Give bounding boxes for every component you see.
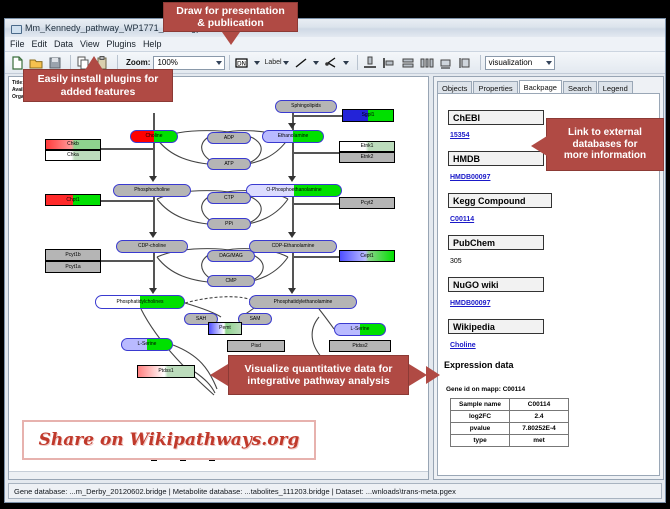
node-label: CDP-Ethanolamine bbox=[272, 244, 315, 249]
node-phosphocholine[interactable]: Phosphocholine bbox=[113, 184, 191, 197]
menu-item-view[interactable]: View bbox=[80, 39, 99, 49]
section-header-wikipedia: Wikipedia bbox=[448, 319, 544, 334]
cell-key: log2FC bbox=[451, 411, 510, 423]
canvas-horizontal-scrollbar[interactable] bbox=[9, 471, 429, 479]
expression-data-title: Expression data bbox=[444, 360, 514, 370]
callout-install-plugins: Easily install plugins for added feature… bbox=[23, 69, 173, 102]
gene-chkb[interactable]: Chkb bbox=[45, 139, 101, 150]
gene-label: Pcyt1a bbox=[65, 265, 80, 270]
node-ethanolamine-top[interactable]: Ethanolamine bbox=[262, 130, 324, 143]
callout-draw-arrow bbox=[222, 32, 240, 45]
gene-label: Sgpl1 bbox=[362, 113, 375, 118]
toolbar-separator-3 bbox=[229, 55, 230, 70]
gene-label: Pcyt2 bbox=[361, 201, 374, 206]
expression-data-table: Sample name C00114 log2FC 2.4 pvalue 7.8… bbox=[450, 398, 569, 447]
node-label: L-Serine bbox=[351, 327, 370, 332]
node-atp[interactable]: ATP bbox=[207, 158, 251, 170]
cell-value: 7.80252E-4 bbox=[510, 423, 569, 435]
node-label: O-Phosphoethanolamine bbox=[266, 188, 321, 193]
toolbar-separator-4 bbox=[357, 55, 358, 70]
kegg-link[interactable]: C00114 bbox=[450, 216, 474, 223]
node-cdp-ethanolamine[interactable]: CDP-Ethanolamine bbox=[249, 240, 337, 253]
table-row: type met bbox=[451, 435, 569, 447]
gene-sgpl1[interactable]: Sgpl1 bbox=[342, 109, 394, 122]
node-adp[interactable]: ADP bbox=[207, 132, 251, 144]
common-width-icon[interactable] bbox=[438, 55, 454, 71]
callout-line-2: added features bbox=[61, 86, 136, 98]
node-phosphatidylethanolamine[interactable]: Phosphatidylethanolamine bbox=[249, 295, 357, 309]
gene-chpt1[interactable]: Chpt1 bbox=[45, 194, 101, 206]
zoom-value: 100% bbox=[157, 58, 177, 67]
node-label: ATP bbox=[224, 162, 233, 167]
callout-visualize-arrow-right-2 bbox=[426, 366, 440, 384]
gene-etnk1[interactable]: Etnk1 bbox=[339, 141, 395, 152]
gene-pcyt2[interactable]: Pcyt2 bbox=[339, 197, 395, 209]
menu-item-help[interactable]: Help bbox=[143, 39, 162, 49]
cell-value: C00114 bbox=[510, 399, 569, 411]
section-header-pubchem: PubChem bbox=[448, 235, 544, 250]
cell-value: 2.4 bbox=[510, 411, 569, 423]
gene-label: Cept1 bbox=[360, 254, 373, 259]
node-ppi[interactable]: PPi bbox=[207, 218, 251, 230]
callout-line-2: integrative pathway analysis bbox=[247, 375, 389, 387]
node-cdp-choline[interactable]: CDP-choline bbox=[116, 240, 188, 253]
chebi-link[interactable]: 15354 bbox=[450, 132, 469, 139]
line-icon[interactable] bbox=[293, 55, 309, 71]
gene-label: Pcyt1b bbox=[65, 253, 80, 258]
node-label: SAH bbox=[196, 317, 206, 322]
toolbar-separator-5 bbox=[480, 55, 481, 70]
node-o-phosphoethanolamine[interactable]: O-Phosphoethanolamine bbox=[246, 184, 342, 197]
table-row: log2FC 2.4 bbox=[451, 411, 569, 423]
gene-cept1[interactable]: Cept1 bbox=[339, 250, 395, 262]
screenshot-root: Mm_Kennedy_pathway_WP1771_45176.gpml Fil… bbox=[0, 0, 670, 509]
tab-backpage[interactable]: Backpage bbox=[519, 80, 562, 94]
status-text: Gene database: ...m_Derby_20120602.bridg… bbox=[14, 487, 456, 496]
visualization-combobox[interactable]: visualization bbox=[485, 56, 555, 70]
cell-key: pvalue bbox=[451, 423, 510, 435]
callout-draw-presentation: Draw for presentation & publication bbox=[163, 2, 298, 32]
side-panel-tabs: Objects Properties Backpage Search Legen… bbox=[437, 80, 660, 94]
callout-line-1: Visualize quantitative data for bbox=[244, 363, 392, 375]
visualization-value: visualization bbox=[489, 58, 533, 67]
gene-pemt[interactable]: Pemt bbox=[208, 322, 242, 335]
gene-ptdss2[interactable]: Ptdss2 bbox=[329, 340, 391, 352]
pubchem-value: 305 bbox=[450, 258, 462, 265]
callout-line-1: Easily install plugins for bbox=[38, 73, 159, 85]
toolbar-separator-2 bbox=[117, 55, 118, 70]
gene-pcyt1b[interactable]: Pcyt1b bbox=[45, 249, 101, 261]
gene-pisd[interactable]: Pisd bbox=[227, 340, 285, 352]
align-left-icon[interactable] bbox=[381, 55, 397, 71]
gene-label: Etnk1 bbox=[361, 144, 374, 149]
gene-id-on-mapp: Gene id on mapp: C00114 bbox=[446, 386, 525, 393]
node-sam[interactable]: SAM bbox=[238, 313, 272, 325]
menu-item-edit[interactable]: Edit bbox=[32, 39, 48, 49]
section-header-chebi: ChEBI bbox=[448, 110, 544, 125]
chevron-down-icon-2 bbox=[546, 61, 552, 65]
node-choline-top[interactable]: Choline bbox=[130, 130, 178, 143]
section-header-hmdb: HMDB bbox=[448, 151, 544, 166]
zoom-label: Zoom: bbox=[126, 58, 150, 67]
node-l-serine-right[interactable]: L-Serine bbox=[334, 323, 386, 336]
align-bottom-icon[interactable] bbox=[362, 55, 378, 71]
node-label: Sphingolipids bbox=[291, 104, 321, 109]
node-label: Phosphatidylethanolamine bbox=[274, 300, 333, 305]
node-phosphatidylcholines[interactable]: Phosphatidylcholines bbox=[95, 295, 185, 309]
node-label: Ethanolamine bbox=[278, 134, 309, 139]
node-label: Choline bbox=[146, 134, 163, 139]
menu-item-plugins[interactable]: Plugins bbox=[106, 39, 136, 49]
line-dropdown-icon[interactable] bbox=[313, 61, 319, 65]
callout-visualize-arrow-left bbox=[210, 364, 228, 386]
gene-label: Pisd bbox=[251, 344, 261, 349]
node-sphingolipids[interactable]: Sphingolipids bbox=[275, 100, 337, 113]
hmdb-link[interactable]: HMDB00097 bbox=[450, 174, 490, 181]
gene-label: Pemt bbox=[219, 326, 231, 331]
distribute-icon[interactable] bbox=[419, 55, 435, 71]
datanode-dropdown-icon[interactable] bbox=[254, 61, 260, 65]
cell-key: Sample name bbox=[451, 399, 510, 411]
share-text: Share on Wikipathways.org bbox=[39, 430, 300, 450]
node-label: CDP-choline bbox=[138, 244, 166, 249]
title-bar: Mm_Kennedy_pathway_WP1771_45176.gpml bbox=[5, 19, 665, 38]
gene-label: Chka bbox=[67, 153, 79, 158]
section-header-nugo: NuGO wiki bbox=[448, 277, 544, 292]
node-label: SAM bbox=[250, 317, 261, 322]
cell-key: type bbox=[451, 435, 510, 447]
common-height-icon[interactable] bbox=[457, 55, 473, 71]
menu-bar: File Edit Data View Plugins Help bbox=[5, 37, 665, 52]
label-dropdown-icon[interactable] bbox=[283, 61, 289, 65]
chevron-down-icon bbox=[216, 61, 222, 65]
gene-label: Etnk2 bbox=[361, 155, 374, 160]
callout-share-wikipathways: Share on Wikipathways.org bbox=[22, 420, 316, 460]
node-label: Phosphatidylcholines bbox=[117, 300, 164, 305]
callout-plugins-arrow bbox=[85, 56, 103, 70]
section-header-kegg: Kegg Compound bbox=[448, 193, 552, 208]
node-cmp[interactable]: CMP bbox=[207, 275, 255, 287]
anchor-dropdown-icon[interactable] bbox=[343, 61, 349, 65]
table-row: pvalue 7.80252E-4 bbox=[451, 423, 569, 435]
gene-pcyt1a[interactable]: Pcyt1a bbox=[45, 261, 101, 273]
gene-label: Ptdss2 bbox=[352, 344, 367, 349]
node-label: Phosphocholine bbox=[134, 188, 170, 193]
gene-ptdss1[interactable]: Ptdss1 bbox=[137, 365, 195, 378]
node-ctp[interactable]: CTP bbox=[207, 192, 251, 204]
datanode-icon[interactable]: DN bbox=[234, 55, 250, 71]
label-tool-label[interactable]: Label bbox=[264, 59, 281, 66]
nugo-link[interactable]: HMDB00097 bbox=[450, 300, 490, 307]
zoom-combobox[interactable]: 100% bbox=[153, 56, 225, 70]
gene-label: Chkb bbox=[67, 142, 79, 147]
cell-value: met bbox=[510, 435, 569, 447]
callout-line-2: databases for bbox=[572, 139, 637, 151]
callout-line-1: Draw for presentation bbox=[176, 5, 285, 17]
menu-item-data[interactable]: Data bbox=[54, 39, 73, 49]
status-bar: Gene database: ...m_Derby_20120602.bridg… bbox=[8, 483, 662, 499]
menu-item-file[interactable]: File bbox=[10, 39, 25, 49]
node-l-serine-left[interactable]: L-Serine bbox=[121, 338, 173, 351]
app-icon bbox=[10, 23, 21, 34]
node-label: DAG/MAG bbox=[219, 254, 243, 259]
svg-text:DN: DN bbox=[237, 60, 246, 67]
gene-label: Ptdss1 bbox=[158, 369, 173, 374]
callout-link-arrow bbox=[531, 136, 547, 156]
stack-icon[interactable] bbox=[400, 55, 416, 71]
gene-etnk2[interactable]: Etnk2 bbox=[339, 152, 395, 163]
callout-line-2: & publication bbox=[197, 17, 264, 29]
node-label: CTP bbox=[224, 196, 234, 201]
node-label: ADP bbox=[224, 136, 234, 141]
node-label: L-Serine bbox=[138, 342, 157, 347]
callout-line-1: Link to external bbox=[568, 127, 642, 139]
callout-external-databases: Link to external databases for more info… bbox=[546, 118, 664, 171]
callout-line-3: more information bbox=[564, 150, 646, 162]
callout-visualize-arrow-right bbox=[409, 364, 427, 386]
wikipedia-link[interactable]: Choline bbox=[450, 342, 476, 349]
node-label: PPi bbox=[225, 222, 233, 227]
anchor-icon[interactable] bbox=[323, 55, 339, 71]
gene-label: Chpt1 bbox=[66, 198, 79, 203]
node-dag-mag[interactable]: DAG/MAG bbox=[207, 250, 255, 262]
toolbar-separator bbox=[70, 55, 71, 70]
callout-visualize-data: Visualize quantitative data for integrat… bbox=[228, 355, 409, 395]
gene-chka[interactable]: Chka bbox=[45, 150, 101, 161]
node-label: CMP bbox=[225, 279, 236, 284]
table-row: Sample name C00114 bbox=[451, 399, 569, 411]
